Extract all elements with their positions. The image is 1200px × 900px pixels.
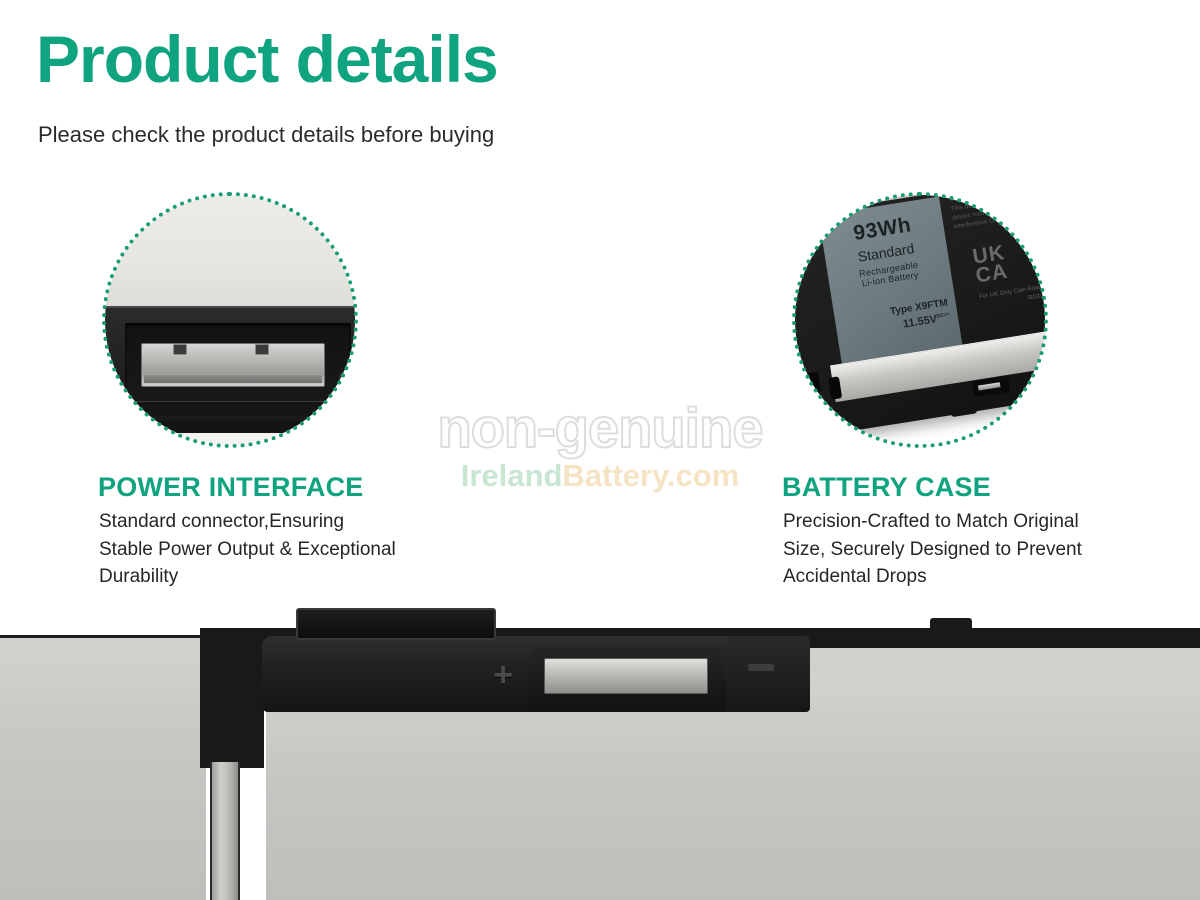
- watermark-brand-part-a: Ireland: [461, 458, 563, 493]
- battery-small-tab: [930, 618, 972, 632]
- power-connector-illustration: [105, 195, 355, 445]
- page-title: Product details: [36, 26, 498, 92]
- photo-background: [105, 433, 355, 445]
- battery-spec-label: 93Wh Standard Rechargeable Li-ion Batter…: [818, 196, 962, 363]
- battery-bridge-cap: [296, 608, 496, 640]
- battery-case-illustration: istered 93Wh Standard Rechargeable Li-io…: [795, 195, 1045, 445]
- battery-voltage-superscript: DC==: [936, 312, 950, 320]
- battery-vent-3: [811, 399, 825, 422]
- connector-contact-strip: [141, 343, 325, 387]
- connector-side-tab: [339, 369, 355, 413]
- battery-frame-left-strip: [200, 628, 264, 768]
- battery-voltage: 11.55V: [902, 313, 938, 330]
- power-interface-description: Standard connector,Ensuring Stable Power…: [99, 508, 399, 591]
- ukca-mark-icon: UK CA: [971, 243, 1009, 286]
- battery-top-panel: [105, 195, 355, 309]
- page-subtitle: Please check the product details before …: [38, 122, 494, 148]
- power-interface-photo-clip: [105, 195, 355, 445]
- battery-case-foot: [950, 403, 977, 417]
- connector-pin-left: [173, 344, 187, 355]
- battery-metal-rail: [210, 762, 240, 900]
- battery-cell-left: [0, 635, 206, 900]
- watermark-brand-part-b: Battery.com: [562, 458, 739, 493]
- power-interface-photo: [102, 192, 358, 448]
- connector-lower-lip: [125, 401, 325, 416]
- battery-vent-1: [807, 372, 821, 395]
- polarity-plus-marker: +: [486, 658, 520, 692]
- battery-right-tab: [726, 636, 810, 712]
- battery-case-heading: BATTERY CASE: [782, 472, 991, 503]
- battery-connector-contacts: [544, 658, 708, 694]
- power-interface-heading: POWER INTERFACE: [98, 472, 364, 503]
- battery-case-description: Precision-Crafted to Match Original Size…: [783, 508, 1113, 591]
- connector-pin-right: [255, 344, 269, 355]
- battery-hero-photo: +: [0, 600, 1200, 900]
- battery-case-photo: istered 93Wh Standard Rechargeable Li-io…: [792, 192, 1048, 448]
- battery-case-body: istered 93Wh Standard Rechargeable Li-io…: [795, 195, 1045, 439]
- ukca-address-text: For UK Only Cain Road, Bra RG12 1LF: [979, 282, 1045, 312]
- ukca-line-2: CA: [974, 262, 1009, 286]
- regulatory-notice-text: This device complies with Operation is s…: [948, 195, 1038, 233]
- battery-case-photo-clip: istered 93Wh Standard Rechargeable Li-io…: [795, 195, 1045, 445]
